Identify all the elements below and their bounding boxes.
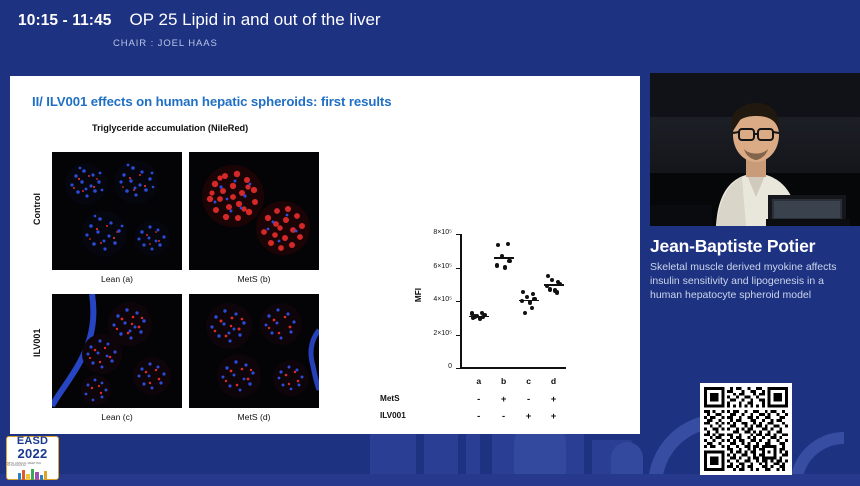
chart-y-tick [456, 335, 461, 336]
session-header: 10:15 - 11:45 OP 25 Lipid in and out of … [0, 0, 860, 76]
speaker-video-feed[interactable] [650, 73, 860, 226]
micrograph-caption-d: MetS (d) [189, 412, 319, 422]
chart-y-tick-label: 0 [410, 363, 452, 370]
session-chair: CHAIR : JOEL HAAS [113, 38, 860, 49]
header-title-row: 10:15 - 11:45 OP 25 Lipid in and out of … [0, 0, 860, 30]
easd-logo-subtitle: 58TH ANNUAL MEETING · STOCKHOLM [7, 462, 58, 468]
easd-logo: EASD 2022 58TH ANNUAL MEETING · STOCKHOL… [6, 436, 59, 480]
chart-y-tick [456, 368, 461, 369]
condition-value: + [546, 411, 562, 422]
session-title: OP 25 Lipid in and out of the liver [130, 10, 381, 30]
chart-data-point [507, 259, 511, 263]
chart-data-point [555, 290, 559, 294]
chart-x-category-label: c [521, 376, 537, 386]
condition-value: - [496, 411, 512, 422]
qr-code-icon[interactable] [700, 383, 792, 475]
chart-y-tick [456, 234, 461, 235]
micrograph-image-a [52, 152, 182, 270]
session-time: 10:15 - 11:45 [18, 12, 112, 30]
chart-x-category-label: d [546, 376, 562, 386]
chart-x-category-label: a [471, 376, 487, 386]
chart-x-category-label: b [496, 376, 512, 386]
condition-value: - [471, 394, 487, 405]
chart-y-tick-label: 2×10⁵ [410, 330, 452, 337]
speaker-info: Jean-Baptiste Potier Skeletal muscle der… [650, 236, 856, 303]
condition-value: + [546, 394, 562, 405]
chart-y-tick [456, 268, 461, 269]
condition-value: - [471, 411, 487, 422]
chart-mean-line [544, 284, 564, 285]
chart-data-point [548, 287, 552, 291]
condition-row-label: ILV001 [380, 411, 406, 420]
presentation-slide[interactable]: II/ ILV001 effects on human hepatic sphe… [10, 76, 640, 434]
micrograph-image-d [189, 294, 319, 408]
micrograph-section-title: Triglyceride accumulation (NileRed) [92, 123, 248, 133]
slide-title: II/ ILV001 effects on human hepatic sphe… [32, 94, 391, 109]
chart-y-tick-label: 4×10⁵ [410, 296, 452, 303]
chart-y-tick-label: 6×10⁵ [410, 263, 452, 270]
condition-value: + [496, 394, 512, 405]
chart-data-point [531, 292, 535, 296]
micrograph-caption-c: Lean (c) [52, 412, 182, 422]
chart-data-point [496, 243, 500, 247]
easd-logo-year: 2022 [17, 447, 47, 461]
chart-y-tick-label: 8×10⁵ [410, 229, 452, 236]
chart-plot-area [408, 226, 598, 386]
easd-logo-bars-icon [18, 469, 48, 480]
chart-mean-line [519, 300, 539, 301]
chart-data-point [525, 295, 529, 299]
micrograph-caption-a: Lean (a) [52, 274, 182, 284]
micrograph-image-c [52, 294, 182, 408]
chart-y-tick [456, 301, 461, 302]
chart-data-point [523, 311, 527, 315]
mfi-scatter-chart: MFI 8×10⁵6×10⁵4×10⁵2×10⁵0 abcd MetS-+-+I… [408, 226, 598, 434]
chart-mean-line [469, 316, 489, 317]
chart-data-point [521, 290, 525, 294]
speaker-abstract-title: Skeletal muscle derived myokine affects … [650, 261, 856, 303]
condition-value: + [521, 411, 537, 422]
chart-data-point [506, 242, 510, 246]
condition-row-label: MetS [380, 394, 400, 403]
chart-data-point [530, 306, 534, 310]
micrograph-row-label-ilv001: ILV001 [32, 294, 46, 392]
chart-data-point [550, 278, 554, 282]
chart-mean-line [494, 257, 514, 258]
speaker-name: Jean-Baptiste Potier [650, 236, 856, 257]
chart-data-point [528, 300, 532, 304]
micrograph-image-b [189, 152, 319, 270]
micrograph-caption-b: MetS (b) [189, 274, 319, 284]
micrograph-row-label-control: Control [32, 160, 46, 258]
chart-data-point [503, 265, 507, 269]
chart-data-point [495, 263, 499, 267]
condition-value: - [521, 394, 537, 405]
